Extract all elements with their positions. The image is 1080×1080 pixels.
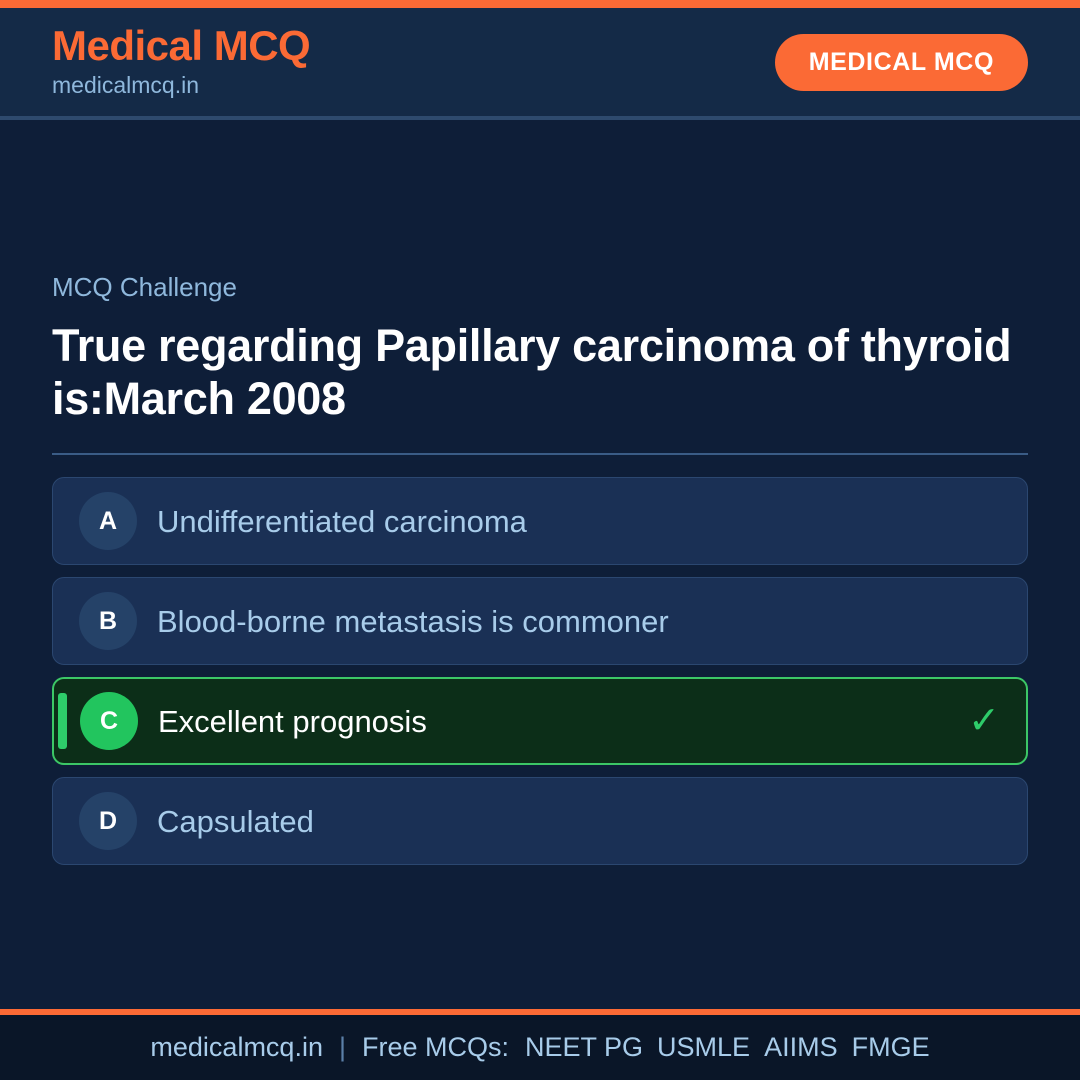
footer-separator: | <box>339 1032 346 1063</box>
brand: Medical MCQ medicalmcq.in <box>52 24 310 100</box>
main-content: MCQ Challenge True regarding Papillary c… <box>0 120 1080 1009</box>
correct-accent-bar <box>58 693 67 749</box>
option-b[interactable]: B Blood-borne metastasis is commoner <box>52 577 1028 665</box>
question-text: True regarding Papillary carcinoma of th… <box>52 319 1028 425</box>
top-accent-bar <box>0 0 1080 8</box>
footer-exam-neet-pg: NEET PG <box>525 1032 643 1063</box>
option-label: Capsulated <box>157 803 1001 840</box>
page-footer: medicalmcq.in | Free MCQs: NEET PG USMLE… <box>0 1015 1080 1080</box>
option-letter-badge: D <box>79 792 137 850</box>
footer-exam-aiims: AIIMS <box>764 1032 838 1063</box>
option-letter-badge: A <box>79 492 137 550</box>
footer-exam-list: NEET PG USMLE AIIMS FMGE <box>525 1032 930 1063</box>
option-d[interactable]: D Capsulated <box>52 777 1028 865</box>
question-divider <box>52 453 1028 455</box>
brand-title: Medical MCQ <box>52 24 310 68</box>
mcq-card: Medical MCQ medicalmcq.in MEDICAL MCQ MC… <box>0 0 1080 1080</box>
option-letter-badge: C <box>80 692 138 750</box>
eyebrow-label: MCQ Challenge <box>52 272 1028 303</box>
footer-label: Free MCQs: <box>362 1032 509 1063</box>
footer-site: medicalmcq.in <box>150 1032 323 1063</box>
brand-badge: MEDICAL MCQ <box>775 34 1028 91</box>
options-list: A Undifferentiated carcinoma B Blood-bor… <box>52 477 1028 865</box>
brand-subtitle: medicalmcq.in <box>52 71 310 100</box>
option-c[interactable]: C Excellent prognosis ✓ <box>52 677 1028 765</box>
option-label: Undifferentiated carcinoma <box>157 503 1001 540</box>
footer-exam-fmge: FMGE <box>852 1032 930 1063</box>
option-label: Blood-borne metastasis is commoner <box>157 603 1001 640</box>
page-header: Medical MCQ medicalmcq.in MEDICAL MCQ <box>0 8 1080 120</box>
option-letter-badge: B <box>79 592 137 650</box>
option-label: Excellent prognosis <box>158 703 952 740</box>
option-a[interactable]: A Undifferentiated carcinoma <box>52 477 1028 565</box>
footer-exam-usmle: USMLE <box>657 1032 750 1063</box>
checkmark-icon: ✓ <box>968 702 1000 740</box>
